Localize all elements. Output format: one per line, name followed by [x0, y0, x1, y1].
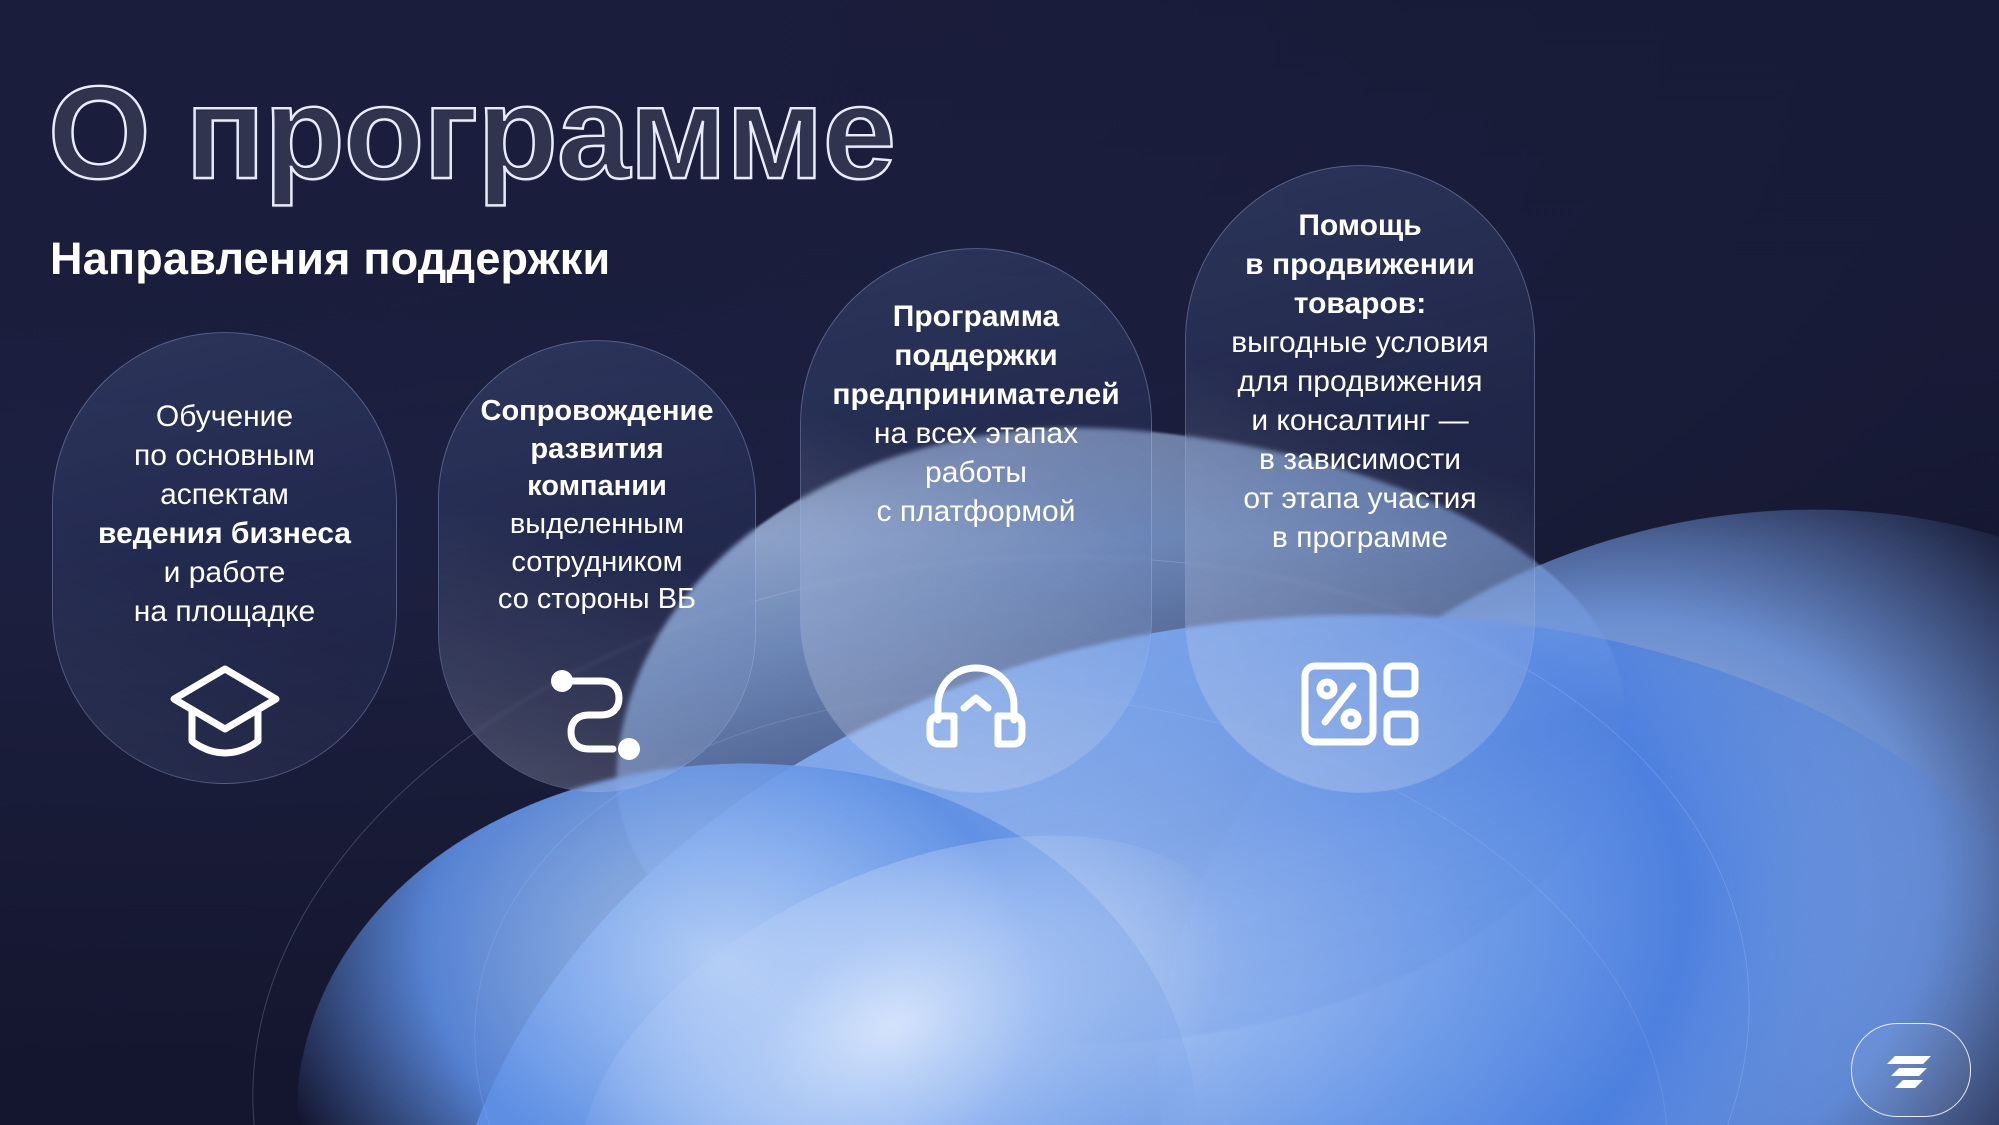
card-line: и консалтинг —: [1212, 401, 1508, 440]
page-subtitle: Направления поддержки: [50, 233, 610, 285]
card-line: Сопровождение: [465, 393, 729, 431]
card-line: работы: [827, 453, 1125, 492]
card-promotion: Помощь в продвижении товаров: выгодные у…: [1185, 165, 1535, 793]
card-line: товаров:: [1212, 284, 1508, 323]
card-line: Помощь: [1212, 206, 1508, 245]
card-line: развития: [465, 431, 729, 469]
card-training: Обучение по основным аспектам ведения би…: [52, 332, 397, 784]
card-line: аспектам: [79, 475, 370, 514]
card-line: в программе: [1212, 518, 1508, 557]
slide-root: О программе Направления поддержки Обучен…: [0, 0, 1999, 1125]
card-line: по основным: [79, 436, 370, 475]
card-line: в зависимости: [1212, 440, 1508, 479]
company-logo-badge: [1851, 1023, 1971, 1117]
discount-percent-icon: [1299, 658, 1421, 750]
card-entrepreneurs: Программа поддержки предпринимателей на …: [800, 248, 1152, 793]
card-line: предпринимателей: [827, 375, 1125, 414]
headset-support-icon: [920, 658, 1032, 754]
card-line: и работе: [79, 553, 370, 592]
card-line: со стороны ВБ: [465, 581, 729, 619]
workflow-node-icon: [545, 661, 649, 765]
card-entrepreneurs-text: Программа поддержки предпринимателей на …: [827, 249, 1125, 531]
card-training-text: Обучение по основным аспектам ведения би…: [79, 333, 370, 631]
card-line: с платформой: [827, 492, 1125, 531]
graduation-cap-icon: [166, 657, 284, 761]
card-line: для продвижения: [1212, 362, 1508, 401]
card-promotion-text: Помощь в продвижении товаров: выгодные у…: [1212, 166, 1508, 557]
card-line: на площадке: [79, 592, 370, 631]
card-line: ведения бизнеса: [79, 514, 370, 553]
card-line: компании: [465, 468, 729, 506]
card-line: от этапа участия: [1212, 479, 1508, 518]
card-line: Обучение: [79, 397, 370, 436]
page-title: О программе: [48, 66, 895, 201]
card-line: сотрудником: [465, 544, 729, 582]
card-support: Сопровождение развития компании выделенн…: [438, 340, 756, 792]
card-line: выгодные условия: [1212, 323, 1508, 362]
card-support-text: Сопровождение развития компании выделенн…: [465, 341, 729, 619]
card-line: поддержки: [827, 336, 1125, 375]
card-line: выделенным: [465, 506, 729, 544]
card-line: Программа: [827, 297, 1125, 336]
card-line: на всех этапах: [827, 414, 1125, 453]
logo-mark-icon: [1885, 1050, 1937, 1090]
card-line: в продвижении: [1212, 245, 1508, 284]
